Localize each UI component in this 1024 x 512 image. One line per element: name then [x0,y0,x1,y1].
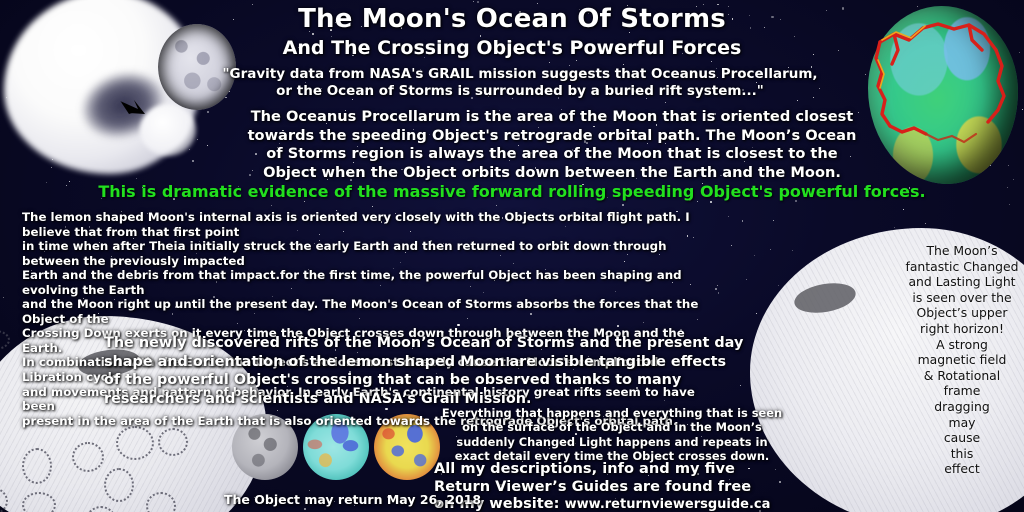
intro-line-1: The Oceanus Procellarum is the area of t… [222,108,882,127]
body-line-4: and the Moon right up until the present … [22,297,722,326]
body-line-3: Earth and the debris from that impact.fo… [22,268,722,297]
rifts-paragraph: The newly discovered rifts of the Moon’s… [104,334,744,408]
website-block: All my descriptions, info and my five Re… [434,460,854,512]
right-caption-line-8: magnetic field [904,352,1020,368]
crater [116,426,154,460]
right-caption-line-13: cause [904,430,1020,446]
body-line-1: The lemon shaped Moon's internal axis is… [22,210,722,239]
return-date-label: The Object may return May 26, 2018 [224,492,481,507]
highlight-statement: This is dramatic evidence of the massive… [0,182,1024,201]
crater [146,492,176,512]
quote-line-1: "Gravity data from NASA's GRAIL mission … [150,66,890,83]
everything-line-1: Everything that happens and everything t… [434,406,790,420]
intro-line-2: towards the speeding Object's retrograde… [222,127,882,146]
body-line-2: in time when after Theia initially struc… [22,239,722,268]
right-caption-line-6: right horizon! [904,321,1020,337]
everything-caption: Everything that happens and everything t… [434,406,790,464]
website-line-2: Return Viewer’s Guides are found free [434,478,854,496]
crater [72,442,104,472]
rifts-line-1: The newly discovered rifts of the Moon’s… [104,334,744,353]
lemon-moon-lobe [140,104,196,156]
crater [22,448,52,484]
crater [0,330,10,350]
right-caption-line-15: effect [904,461,1020,477]
everything-line-2: on the surface of the Object and in the … [434,420,790,434]
poster-canvas: The Moon's Ocean Of Storms And The Cross… [0,0,1024,512]
right-caption-line-7: A strong [904,337,1020,353]
crater [86,506,116,512]
right-caption-line-2: fantastic Changed [904,259,1020,275]
intro-paragraph: The Oceanus Procellarum is the area of t… [222,108,882,182]
grail-quote: "Gravity data from NASA's GRAIL mission … [150,66,890,100]
right-caption-line-10: frame [904,383,1020,399]
right-caption-line-1: The Moon’s [904,243,1020,259]
right-caption-line-14: this [904,446,1020,462]
website-line-1: All my descriptions, info and my five [434,460,854,478]
right-caption-line-12: may [904,415,1020,431]
right-caption-line-9: & Rotational [904,368,1020,384]
rifts-line-3: of the powerful Object's crossing that c… [104,371,744,390]
right-caption-line-5: Object’s upper [904,305,1020,321]
right-caption-line-11: dragging [904,399,1020,415]
crater [22,492,56,512]
rifts-line-2: shape and orientation of the lemon shape… [104,353,744,372]
pointer-arrow-icon [120,98,146,116]
right-caption-line-3: and Lasting Light [904,274,1020,290]
crater [104,468,134,502]
crater [0,486,8,512]
page-title: The Moon's Ocean Of Storms [0,4,1024,34]
intro-line-3: of Storms region is always the area of t… [222,145,882,164]
intro-line-4: Object when the Object orbits down betwe… [222,164,882,183]
right-side-caption: The Moon’sfantastic Changedand Lasting L… [904,243,1020,477]
quote-line-2: or the Ocean of Storms is surrounded by … [150,83,890,100]
website-url[interactable]: www.returnviewersguide.ca [565,497,771,512]
drawn-moon-right-mare [792,279,858,317]
right-caption-line-4: is seen over the [904,290,1020,306]
crater [158,428,188,456]
website-line-3: on my website: www.returnviewersguide.ca [434,495,854,512]
everything-line-3: suddenly Changed Light happens and repea… [434,435,790,449]
page-subtitle: And The Crossing Object's Powerful Force… [0,37,1024,59]
